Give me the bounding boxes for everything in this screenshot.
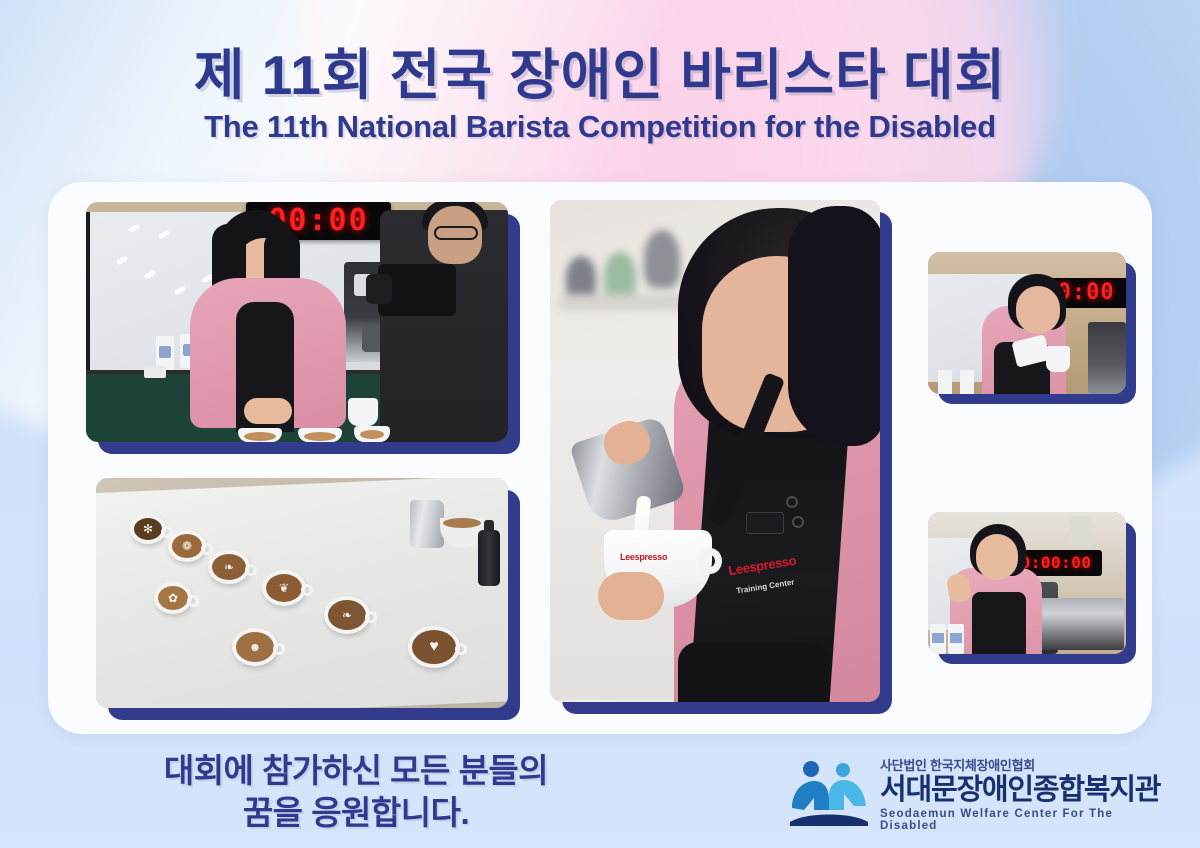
- poster-root: 제 11회 전국 장애인 바리스타 대회 The 11th National B…: [0, 0, 1200, 848]
- photo-competition-floor: 00:00: [86, 202, 508, 442]
- photo-latte-art-cups: ✻ ❁ ❧ ❦ ✿ ❧ ☻ ♥: [96, 478, 508, 708]
- support-message: 대회에 참가하신 모든 분들의 꿈을 응원합니다.: [96, 750, 616, 834]
- page-title-korean: 제 11회 전국 장애인 바리스타 대회: [0, 44, 1200, 106]
- photo-pouring-small: 00:00: [928, 252, 1126, 394]
- support-message-line-1: 대회에 참가하신 모든 분들의: [96, 750, 616, 792]
- organization-logo: 사단법인 한국지체장애인협회 서대문장애인종합복지관 Seodaemun Wel…: [790, 752, 1170, 834]
- photo-finish-signal: 00:00:00: [928, 512, 1126, 654]
- association-name: 사단법인 한국지체장애인협회: [880, 755, 1170, 774]
- cup-brand-label: Leespresso: [620, 552, 667, 562]
- page-title-english: The 11th National Barista Competition fo…: [0, 108, 1200, 146]
- poster-header: 제 11회 전국 장애인 바리스타 대회 The 11th National B…: [0, 44, 1200, 146]
- photo-milk-pour: Leespresso Training Center Leespresso: [550, 200, 880, 702]
- center-name-korean: 서대문장애인종합복지관: [880, 775, 1170, 806]
- center-name-english: Seodaemun Welfare Center For The Disable…: [880, 808, 1170, 832]
- organization-logo-text: 사단법인 한국지체장애인협회 서대문장애인종합복지관 Seodaemun Wel…: [880, 755, 1170, 832]
- support-message-line-2: 꿈을 응원합니다.: [96, 792, 616, 834]
- two-people-logo-icon: [790, 760, 868, 826]
